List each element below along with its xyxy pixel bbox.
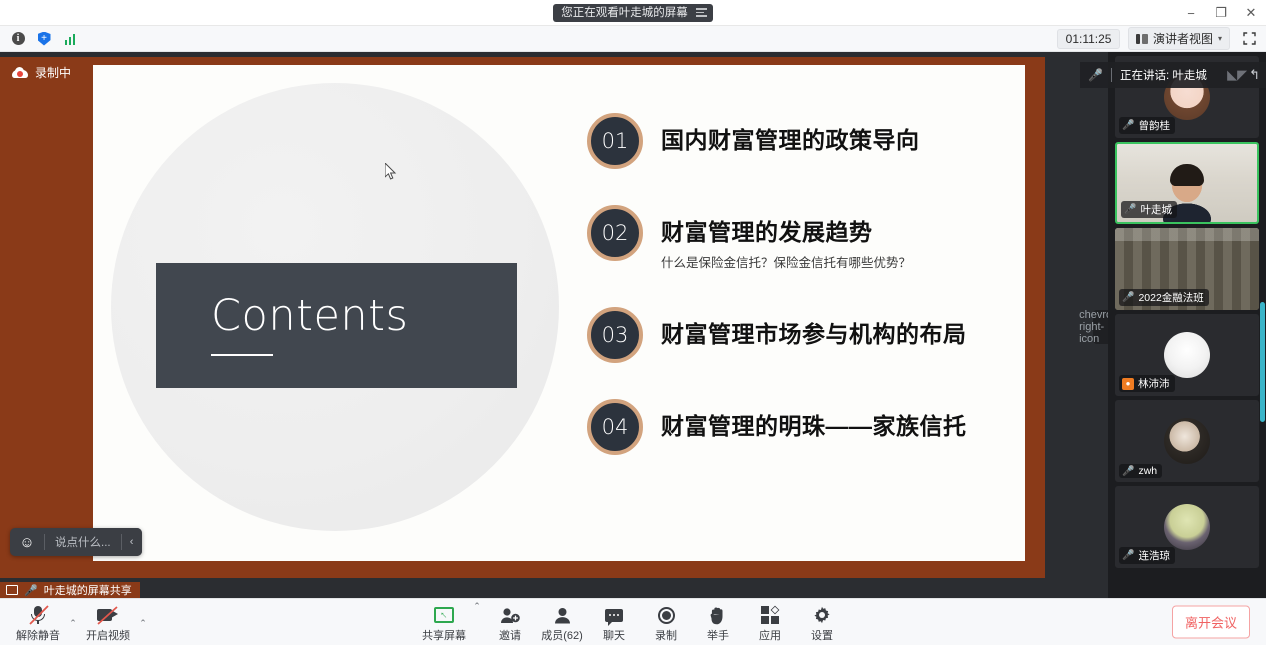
agenda-subtitle: 什么是保险金信托？保险金信托有哪些优势？ xyxy=(661,252,911,271)
mic-off-icon: 🎤 xyxy=(1122,120,1134,131)
participant-name-badge: 🎤 2022金融法班 xyxy=(1119,289,1209,306)
agenda-list: 01 国内财富管理的政策导向 02 财富管理的发展趋势 什么是保险金信托？保险金… xyxy=(587,113,1025,455)
chat-button[interactable]: 聊天 xyxy=(588,601,640,643)
cloud-record-icon xyxy=(12,67,28,78)
participant-name-badge: 🎤 叶走城 xyxy=(1121,201,1177,218)
hair-shape xyxy=(1170,164,1204,186)
share-screen-button[interactable]: ↑ 共享屏幕 xyxy=(418,601,470,643)
settings-label: 设置 xyxy=(811,627,833,643)
raise-hand-label: 举手 xyxy=(707,627,729,643)
minimize-button[interactable]: − xyxy=(1176,0,1206,26)
avatar xyxy=(1164,332,1210,378)
participant-name: 2022金融法班 xyxy=(1138,290,1203,305)
share-options-caret-icon[interactable]: ⌃ xyxy=(470,601,484,626)
meeting-timer: 01:11:25 xyxy=(1057,29,1121,49)
chevrons-icon[interactable]: ◣◤ xyxy=(1227,67,1247,83)
recording-label: 录制中 xyxy=(35,64,71,81)
info-icon[interactable]: i xyxy=(6,29,30,49)
smiley-icon[interactable]: ☺ xyxy=(10,528,44,556)
watching-screen-tooltip: 您正在观看叶走城的屏幕 xyxy=(553,4,713,22)
participant-name: 林沛沛 xyxy=(1138,376,1170,391)
list-icon[interactable] xyxy=(696,8,707,17)
participant-sidebar: 🎤 曾韵桂 🎤 叶走城 🎤 2022金融法班 xyxy=(1108,52,1266,598)
view-mode-label: 演讲者视图 xyxy=(1153,30,1213,47)
invite-icon xyxy=(500,605,520,625)
agenda-number-badge: 02 xyxy=(587,205,643,261)
chevron-left-icon[interactable]: ‹ xyxy=(122,528,142,556)
banner-controls[interactable]: ◣◤ ↰ xyxy=(1227,67,1260,83)
signal-bars-icon[interactable] xyxy=(58,29,82,49)
gear-icon xyxy=(813,605,831,625)
layout-icon xyxy=(1136,34,1148,44)
chevron-down-icon: ▾ xyxy=(1218,34,1222,43)
invite-button[interactable]: 邀请 xyxy=(484,601,536,643)
agenda-number-badge: 04 xyxy=(587,399,643,455)
share-status-label: 叶走城的屏幕共享 xyxy=(44,582,132,598)
unmute-button[interactable]: 解除静音 xyxy=(12,601,64,643)
participants-button[interactable]: 成员(62) xyxy=(536,601,588,643)
record-button[interactable]: 录制 xyxy=(640,601,692,643)
participants-icon xyxy=(553,605,572,625)
sidebar-collapse-button[interactable]: chevron-right-icon xyxy=(1093,310,1108,344)
apps-button[interactable]: 应用 xyxy=(744,601,796,643)
participant-thumbnail-active-speaker[interactable]: 🎤 叶走城 xyxy=(1115,142,1259,224)
settings-button[interactable]: 设置 xyxy=(796,601,848,643)
camera-off-icon xyxy=(97,605,119,625)
video-options-caret-icon[interactable]: ⌃ xyxy=(136,618,150,643)
participant-thumbnail[interactable]: 🎤 zwh xyxy=(1115,400,1259,482)
sidebar-scrollbar[interactable] xyxy=(1260,302,1265,422)
mic-on-icon: 🎤 xyxy=(1124,204,1136,215)
mic-off-icon: 🎤 xyxy=(1122,550,1134,561)
participant-name-badge: ● 林沛沛 xyxy=(1119,375,1175,392)
raise-hand-button[interactable]: 举手 xyxy=(692,601,744,643)
agenda-item: 03 财富管理市场参与机构的布局 xyxy=(587,307,1025,363)
mic-off-icon: 🎤 xyxy=(1122,466,1134,477)
apps-icon xyxy=(761,605,779,625)
screen-icon xyxy=(6,585,18,595)
record-label: 录制 xyxy=(655,627,677,643)
mic-off-icon: 🎤 xyxy=(1088,68,1103,82)
recording-indicator: 录制中 xyxy=(12,64,71,81)
reaction-input[interactable]: 说点什么... xyxy=(45,534,121,550)
shared-screen-stage: Contents 01 国内财富管理的政策导向 02 xyxy=(0,52,1108,598)
contents-heading-box: Contents xyxy=(156,263,517,388)
record-icon xyxy=(658,605,675,625)
agenda-text: 国内财富管理的政策导向 xyxy=(661,113,920,155)
active-speaker-banner: 🎤 正在讲话: 叶走城 ◣◤ ↰ xyxy=(1080,62,1266,88)
mouse-cursor-icon xyxy=(385,163,397,181)
agenda-title: 财富管理的发展趋势 xyxy=(661,213,911,247)
participant-name: 曾韵桂 xyxy=(1138,118,1170,133)
participant-name-badge: 🎤 zwh xyxy=(1119,464,1162,478)
shield-icon[interactable]: + xyxy=(32,29,56,49)
maximize-button[interactable]: ❐ xyxy=(1206,0,1236,26)
apps-label: 应用 xyxy=(759,627,781,643)
toolbar-left-group: 解除静音 ⌃ 开启视频 ⌃ xyxy=(0,601,150,643)
agenda-title: 财富管理市场参与机构的布局 xyxy=(661,315,967,349)
title-bar: 您正在观看叶走城的屏幕 − ❐ ✕ xyxy=(0,0,1266,26)
participant-thumbnail[interactable]: 🎤 连浩琼 xyxy=(1115,486,1259,568)
mic-on-icon: 🎤 xyxy=(24,584,38,597)
back-arrow-icon[interactable]: ↰ xyxy=(1249,67,1260,83)
agenda-number-badge: 03 xyxy=(587,307,643,363)
agenda-number-badge: 01 xyxy=(587,113,643,169)
agenda-title: 国内财富管理的政策导向 xyxy=(661,121,920,155)
mic-on-icon: 🎤 xyxy=(1122,292,1134,303)
invite-label: 邀请 xyxy=(499,627,521,643)
reaction-input-bar[interactable]: ☺ 说点什么... ‹ xyxy=(10,528,142,556)
agenda-text: 财富管理的明珠——家族信托 xyxy=(661,399,967,441)
presentation-slide-frame: Contents 01 国内财富管理的政策导向 02 xyxy=(7,57,1037,575)
participant-name: 叶走城 xyxy=(1140,202,1172,217)
participant-name-badge: 🎤 连浩琼 xyxy=(1119,547,1175,564)
agenda-item: 01 国内财富管理的政策导向 xyxy=(587,113,1025,169)
active-speaker-label: 正在讲话: 叶走城 xyxy=(1120,67,1207,83)
participant-name: zwh xyxy=(1138,465,1157,477)
divider xyxy=(1111,68,1112,82)
agenda-item: 02 财富管理的发展趋势 什么是保险金信托？保险金信托有哪些优势？ xyxy=(587,205,1025,271)
avatar-tag-icon: ● xyxy=(1122,378,1134,390)
view-mode-selector[interactable]: 演讲者视图 ▾ xyxy=(1128,27,1230,50)
agenda-title: 财富管理的明珠——家族信托 xyxy=(661,407,967,441)
raise-hand-icon xyxy=(710,605,726,625)
agenda-text: 财富管理市场参与机构的布局 xyxy=(661,307,967,349)
chat-label: 聊天 xyxy=(603,627,625,643)
audio-options-caret-icon[interactable]: ⌃ xyxy=(66,618,80,643)
contents-title: Contents xyxy=(211,295,517,338)
avatar xyxy=(1164,418,1210,464)
meeting-controls-toolbar: 解除静音 ⌃ 开启视频 ⌃ ↑ xyxy=(0,598,1266,645)
watching-screen-label: 您正在观看叶走城的屏幕 xyxy=(561,4,688,22)
meeting-info-bar: i + 01:11:25 演讲者视图 ▾ xyxy=(0,26,1266,52)
fullscreen-icon[interactable] xyxy=(1238,29,1260,49)
close-button[interactable]: ✕ xyxy=(1236,0,1266,26)
participant-name-badge: 🎤 曾韵桂 xyxy=(1119,117,1175,134)
unmute-label: 解除静音 xyxy=(16,627,60,643)
participant-name: 连浩琼 xyxy=(1138,548,1170,563)
contents-underline xyxy=(211,354,273,357)
zoom-meeting-window: 您正在观看叶走城的屏幕 − ❐ ✕ i + 01:11:25 演讲者视图 ▾ xyxy=(0,0,1266,645)
leave-meeting-button[interactable]: 离开会议 xyxy=(1172,606,1250,639)
agenda-text: 财富管理的发展趋势 什么是保险金信托？保险金信托有哪些优势？ xyxy=(661,205,911,271)
participant-thumbnail[interactable]: 🎤 2022金融法班 xyxy=(1115,228,1259,310)
share-screen-icon: ↑ xyxy=(434,605,454,625)
start-video-button[interactable]: 开启视频 xyxy=(82,601,134,643)
presentation-slide: Contents 01 国内财富管理的政策导向 02 xyxy=(93,65,1025,561)
avatar xyxy=(1164,504,1210,550)
participant-thumbnail[interactable]: ● 林沛沛 xyxy=(1115,314,1259,396)
shared-screen-area[interactable]: Contents 01 国内财富管理的政策导向 02 xyxy=(0,57,1045,578)
share-screen-label: 共享屏幕 xyxy=(422,627,466,643)
start-video-label: 开启视频 xyxy=(86,627,130,643)
toolbar-center-group: ↑ 共享屏幕 ⌃ 邀请 xyxy=(418,601,848,643)
chat-icon xyxy=(605,605,623,625)
window-controls: − ❐ ✕ xyxy=(1176,0,1266,26)
mic-off-icon xyxy=(29,605,47,625)
agenda-item: 04 财富管理的明珠——家族信托 xyxy=(587,399,1025,455)
participants-label: 成员(62) xyxy=(541,627,583,643)
meeting-info-right: 01:11:25 演讲者视图 ▾ xyxy=(1057,27,1260,50)
share-status-bar: 🎤 叶走城的屏幕共享 xyxy=(0,582,140,598)
